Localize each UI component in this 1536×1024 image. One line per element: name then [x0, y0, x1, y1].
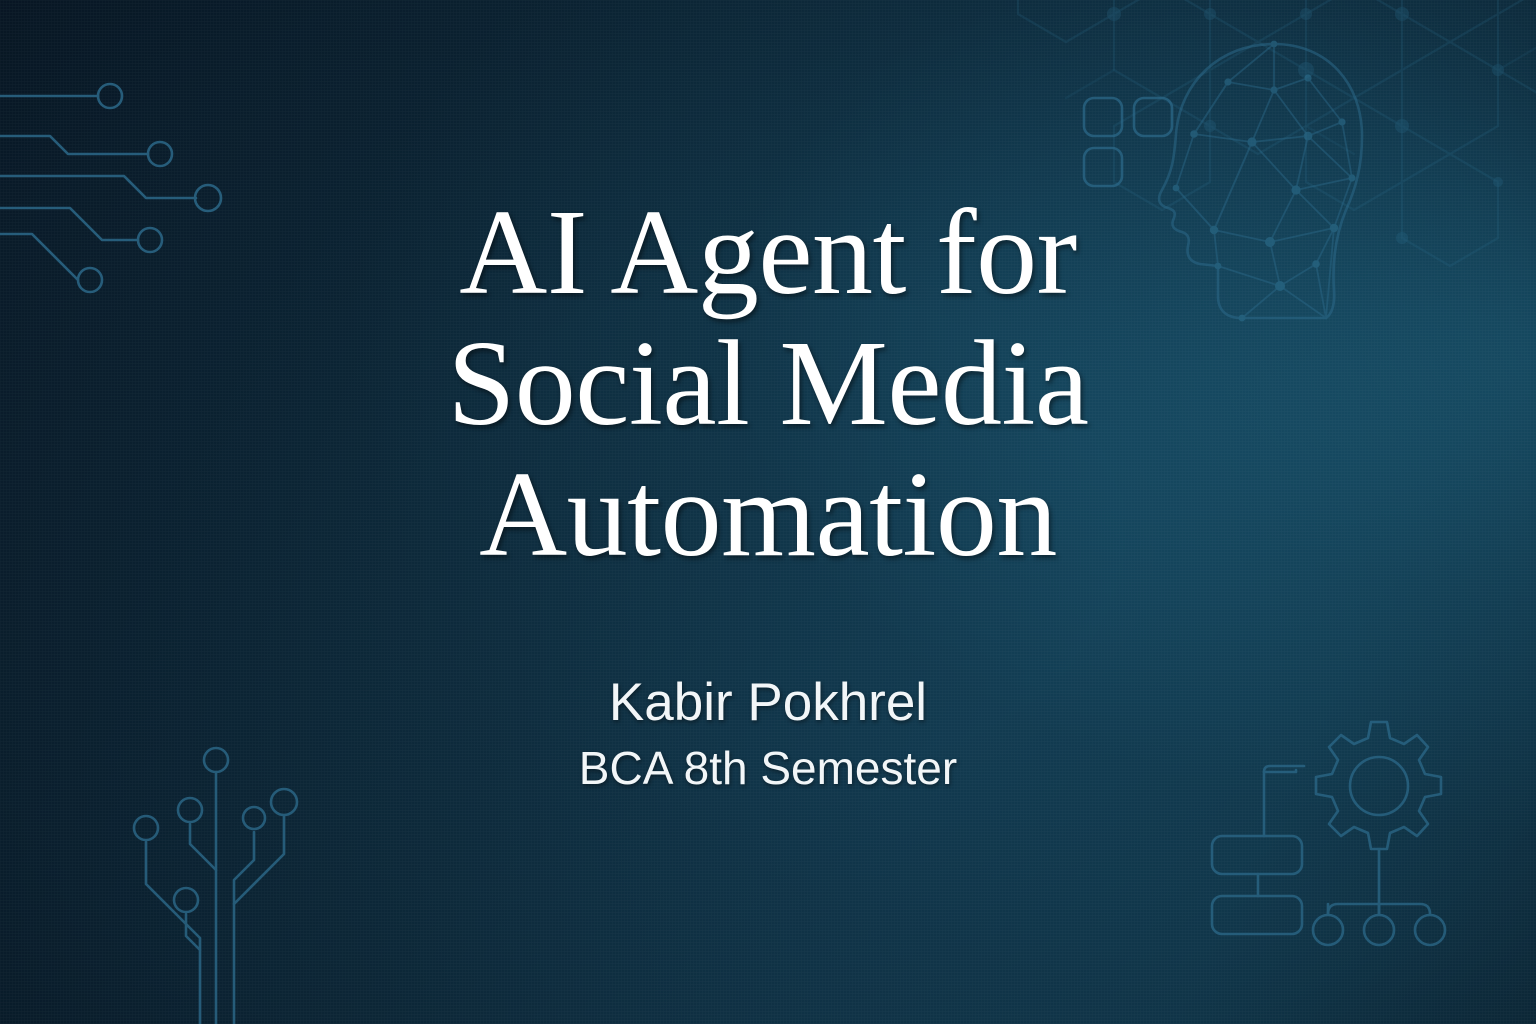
- presenter-name: Kabir Pokhrel: [579, 672, 957, 734]
- title-line-3: Automation: [479, 447, 1057, 582]
- slide-title: AI Agent forSocial MediaAutomation: [447, 187, 1088, 580]
- byline: Kabir Pokhrel BCA 8th Semester: [579, 672, 957, 796]
- slide-content: AI Agent forSocial MediaAutomation Kabir…: [0, 0, 1536, 1024]
- presentation-title-slide: AI Agent forSocial MediaAutomation Kabir…: [0, 0, 1536, 1024]
- course-label: BCA 8th Semester: [579, 740, 957, 796]
- title-line-2: Social Media: [447, 316, 1088, 451]
- title-line-1: AI Agent for: [459, 185, 1076, 320]
